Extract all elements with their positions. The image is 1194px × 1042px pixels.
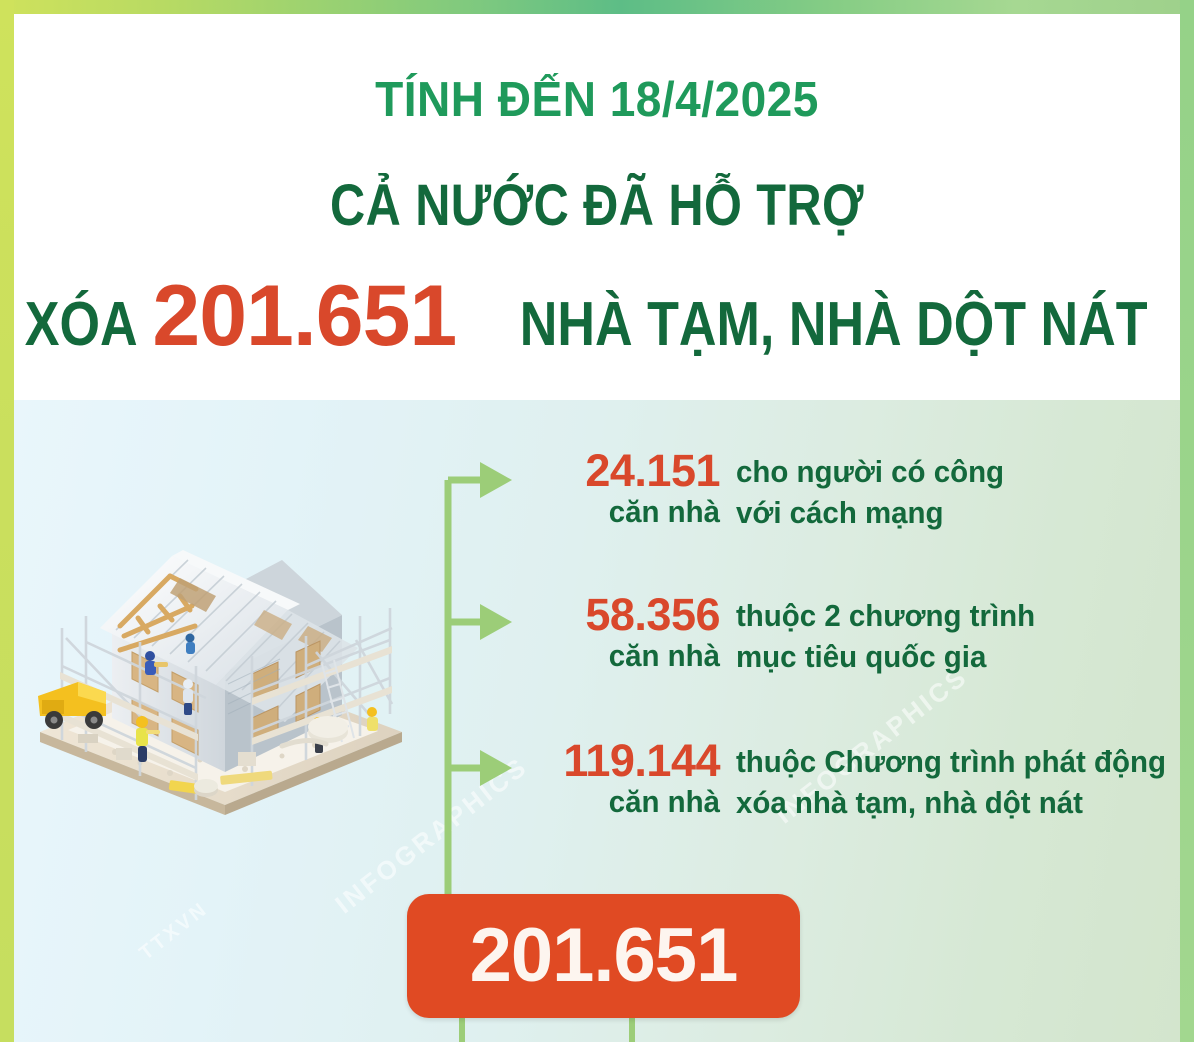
breakdown-row-2: 58.356 căn nhà thuộc 2 chương trình mục … [524,592,1164,688]
arrow-head-icon [480,462,512,786]
row-2-number-column: 58.356 căn nhà [524,592,720,674]
breakdown-row-1: 24.151 căn nhà cho người có công với các… [524,448,1164,544]
house-construction-icon [20,460,440,820]
row-1-number: 24.151 [524,448,720,494]
row-2-desc-line-2: mục tiêu quốc gia [736,637,1145,678]
row-3-desc-line-2: xóa nhà tạm, nhà dột nát [736,783,1180,824]
row-2-desc-line-1: thuộc 2 chương trình [736,596,1145,637]
row-1-number-column: 24.151 căn nhà [524,448,720,530]
row-1-unit: căn nhà [534,494,720,531]
total-value: 201.651 [470,918,738,994]
row-3-number: 119.144 [524,738,720,784]
row-3-number-column: 119.144 căn nhà [524,738,720,820]
row-3-unit: căn nhà [534,784,720,821]
frame-border-left [0,0,14,1042]
headline-total-line: XÓA201.651NHÀ TẠM, NHÀ DỘT NÁT [14,273,1180,359]
frame-border-right [1180,0,1194,1042]
total-badge: 201.651 [407,894,800,1018]
breakdown-row-3: 119.144 căn nhà thuộc Chương trình phát … [524,738,1164,834]
row-3-desc-line-1: thuộc Chương trình phát động [736,742,1180,783]
watermark-4: TTXVN [135,898,213,966]
row-1-desc-line-1: cho người có công [736,452,1145,493]
row-2-unit: căn nhà [534,638,720,675]
infographic-poster: TÍNH ĐẾN 18/4/2025 CẢ NƯỚC ĐÃ HỖ TRỢ XÓA… [0,0,1194,1042]
body-section: INFOGRAPHICS TTXVN INFOGRAPHICS TTXVN [14,400,1180,1042]
row-2-number: 58.356 [524,592,720,638]
page-title: CẢ NƯỚC ĐÃ HỖ TRỢ [107,177,1086,235]
headline-total-number: 201.651 [152,273,456,359]
headline-prefix: XÓA [25,294,138,356]
date-kicker: TÍNH ĐẾN 18/4/2025 [49,76,1145,125]
row-1-description: cho người có công với cách mạng [736,452,1145,534]
headline-suffix: NHÀ TẠM, NHÀ DỘT NÁT [520,294,1148,356]
header-section: TÍNH ĐẾN 18/4/2025 CẢ NƯỚC ĐÃ HỖ TRỢ XÓA… [14,14,1180,400]
row-1-desc-line-2: với cách mạng [736,493,1145,534]
row-3-description: thuộc Chương trình phát động xóa nhà tạm… [736,742,1180,824]
row-2-description: thuộc 2 chương trình mục tiêu quốc gia [736,596,1145,678]
frame-border-top [0,0,1194,14]
